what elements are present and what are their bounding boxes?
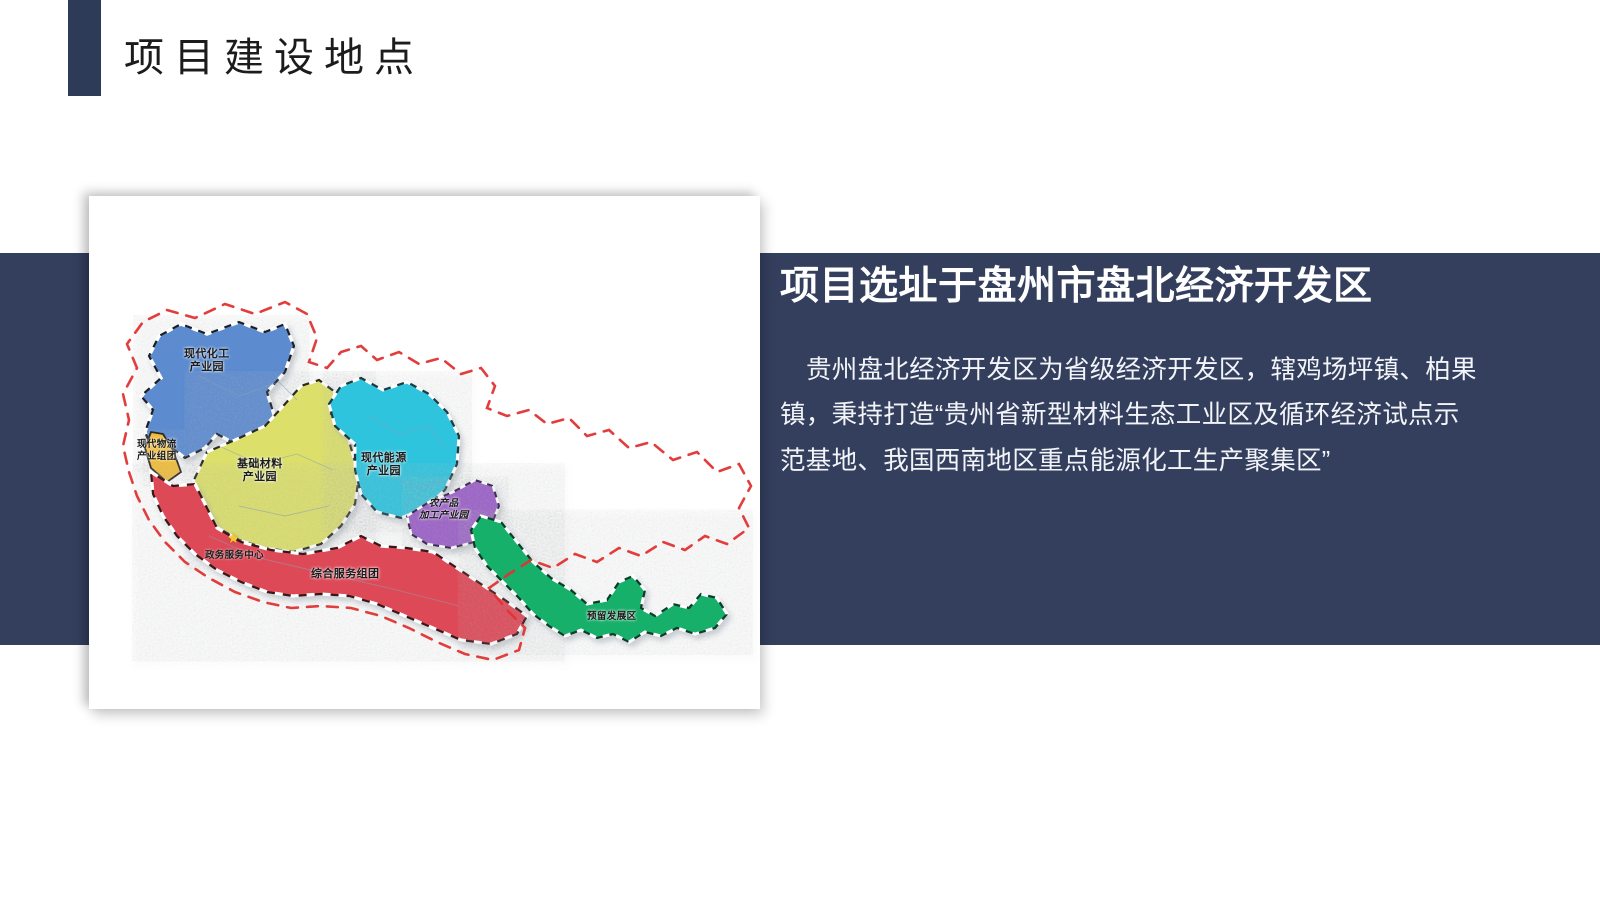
- star-marker-icon: ★: [227, 531, 240, 545]
- map-card: 现代化工 产业园 现代物流 产业组团 基础材料 产业园 现代能源 产业园 农产品…: [89, 196, 760, 709]
- section-heading: 项目选址于盘州市盘北经济开发区: [780, 265, 1480, 310]
- section-body-text: 贵州盘北经济开发区为省级经济开发区，辖鸡场坪镇、柏果镇，秉持打造“贵州省新型材料…: [780, 348, 1480, 484]
- title-accent-bar: [68, 0, 101, 96]
- zoning-map: [89, 196, 760, 709]
- page-title: 项目建设地点: [124, 38, 424, 78]
- poi-label-government-service-center: 政务服务中心: [205, 547, 264, 561]
- description-panel: 项目选址于盘州市盘北经济开发区 贵州盘北经济开发区为省级经济开发区，辖鸡场坪镇、…: [780, 265, 1480, 484]
